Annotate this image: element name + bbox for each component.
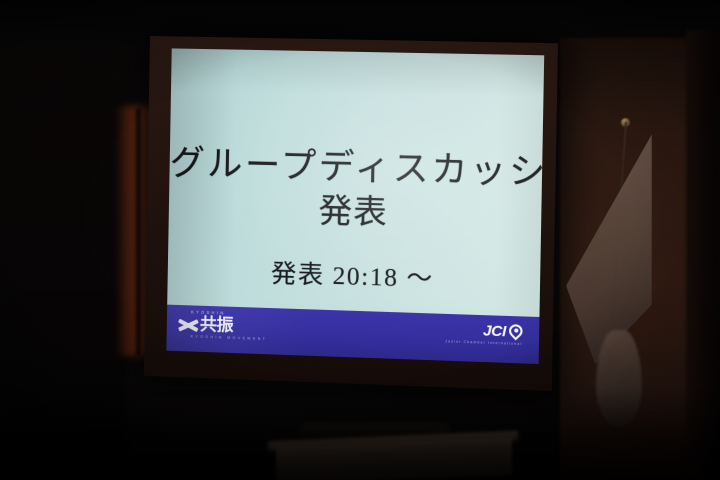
- jci-logo: JCI Junior Chamber International: [445, 322, 523, 346]
- hanging-flag-fold: [596, 330, 642, 426]
- slide: グループディスカッション 発表 発表 20:18 〜 KYOSHIN 共振: [166, 48, 544, 364]
- projection-screen-surface: グループディスカッション 発表 発表 20:18 〜 KYOSHIN 共振: [166, 48, 544, 364]
- photo-scene: グループディスカッション 発表 発表 20:18 〜 KYOSHIN 共振: [0, 0, 720, 480]
- projection-screen-frame: グループディスカッション 発表 発表 20:18 〜 KYOSHIN 共振: [144, 36, 558, 391]
- kyoshin-logo: KYOSHIN 共振 KYOSHIN MOVEMENT: [179, 310, 268, 341]
- slide-subheading: 発表: [169, 190, 542, 238]
- kyoshin-logo-main: 共振: [179, 316, 233, 335]
- kyoshin-logo-name: 共振: [200, 316, 233, 334]
- jci-logo-name: JCI: [483, 323, 506, 339]
- x-mark-icon: [179, 316, 198, 334]
- slide-heading: グループディスカッション: [169, 144, 542, 191]
- location-pin-icon: [509, 324, 523, 340]
- jci-logo-tagline: Junior Chamber International: [445, 340, 522, 346]
- slide-time-line: 発表 20:18 〜: [168, 251, 541, 299]
- jci-logo-main: JCI: [483, 323, 523, 340]
- kyoshin-logo-bottom-text: KYOSHIN MOVEMENT: [191, 335, 268, 341]
- slide-text-block: グループディスカッション 発表 発表 20:18 〜: [168, 144, 543, 298]
- slide-footer-band: KYOSHIN 共振 KYOSHIN MOVEMENT JCI: [166, 305, 539, 364]
